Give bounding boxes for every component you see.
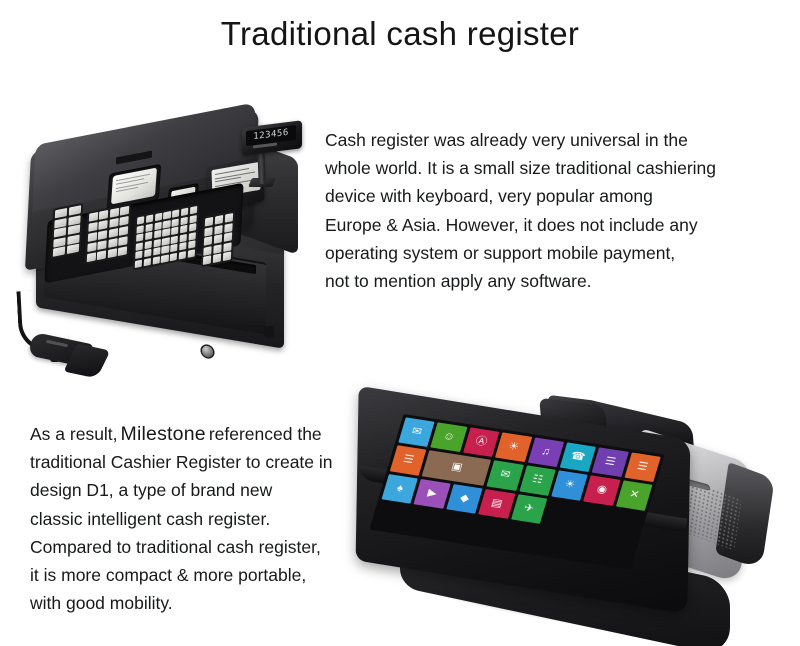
games-icon: ♠ <box>395 483 404 494</box>
video-icon: ▶ <box>426 488 438 500</box>
xbox-icon: ✕ <box>628 490 641 502</box>
tile-camera[interactable]: ◉ <box>583 476 620 506</box>
tile-travel[interactable]: ✈ <box>511 494 548 524</box>
cash-drawer-foot-right <box>264 326 274 338</box>
cash-register-image: 123456 <box>12 58 317 353</box>
maps-icon: ◆ <box>459 493 471 505</box>
tile-games[interactable]: ♠ <box>382 474 419 504</box>
top-paragraph: Cash register was already very universal… <box>325 126 775 295</box>
office-icon: ☰ <box>402 455 415 467</box>
messaging-icon: ✉ <box>410 426 423 438</box>
keyboard-block-left <box>51 203 84 259</box>
people-icon: ☺ <box>442 431 457 443</box>
calendar-icon: ☷ <box>531 475 544 487</box>
finance-icon: ☰ <box>636 461 649 473</box>
tile-bing[interactable]: ☀ <box>551 471 588 501</box>
skype-icon: ☎ <box>569 451 586 463</box>
customer-display-value: 123456 <box>253 129 289 142</box>
photos-icon: ▣ <box>450 462 464 474</box>
page-title: Traditional cash register <box>0 14 800 54</box>
tile-messaging[interactable]: ✉ <box>398 417 435 447</box>
tile-calendar[interactable]: ☷ <box>519 465 556 495</box>
tile-weather[interactable]: ☀ <box>495 432 532 462</box>
reader-icon: ▤ <box>490 498 504 510</box>
bottom-paragraph: As a result,Milestonereferenced the trad… <box>30 420 390 617</box>
customer-display-pole <box>257 150 265 184</box>
news-icon: ☰ <box>604 456 617 468</box>
tile-store[interactable]: Ⓐ <box>463 427 500 457</box>
keyboard-block-numeric <box>85 203 132 264</box>
tile-video[interactable]: ▶ <box>414 479 451 509</box>
tile-mail[interactable]: ✉ <box>487 460 524 490</box>
page-root: Traditional cash register 123456 <box>0 0 800 646</box>
tile-office[interactable]: ☰ <box>390 445 427 475</box>
tile-finance[interactable]: ☰ <box>624 452 661 482</box>
brand-name: Milestone <box>118 423 209 445</box>
tile-news[interactable]: ☰ <box>592 447 629 477</box>
tile-skype[interactable]: ☎ <box>560 442 597 472</box>
bing-icon: ☀ <box>563 480 576 492</box>
tile-maps[interactable]: ◆ <box>446 484 483 514</box>
bottom-paragraph-lead: As a result, <box>30 424 118 444</box>
weather-icon: ☀ <box>507 441 520 453</box>
tile-people[interactable]: ☺ <box>431 422 468 452</box>
music-icon: ♫ <box>540 447 552 459</box>
keyboard-block-right <box>201 211 236 268</box>
tile-reader[interactable]: ▤ <box>478 489 515 519</box>
cash-drawer-lock-icon <box>202 345 213 358</box>
tile-xbox[interactable]: ✕ <box>616 481 653 511</box>
mail-icon: ✉ <box>499 470 512 482</box>
store-icon: Ⓐ <box>474 436 488 448</box>
pos-terminal-image: ✉☺Ⓐ☀♫☎☰☰☰▣✉☷☀◉✕♠▶◆▤✈ <box>352 396 800 644</box>
tile-music[interactable]: ♫ <box>527 437 564 467</box>
camera-icon: ◉ <box>595 485 608 497</box>
bottom-paragraph-rest: referenced the traditional Cashier Regis… <box>30 424 333 613</box>
travel-icon: ✈ <box>523 503 536 515</box>
